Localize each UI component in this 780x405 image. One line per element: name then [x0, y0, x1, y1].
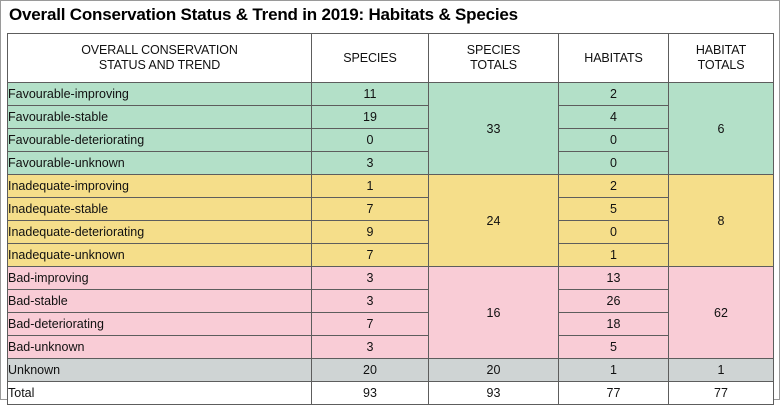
- table-row: Inadequate-deteriorating90: [8, 221, 774, 244]
- cell-habitats: 1: [559, 244, 669, 267]
- cell-habitat-total: 77: [669, 382, 774, 405]
- column-header-habitat-totals-line1: HABITAT: [669, 43, 773, 58]
- column-header-status-line1: OVERALL CONSERVATION: [8, 43, 311, 58]
- column-header-species-totals-line2: TOTALS: [429, 58, 558, 73]
- table-body: Favourable-improving113326Favourable-sta…: [8, 83, 774, 405]
- row-label: Bad-deteriorating: [8, 313, 312, 336]
- table-row: Inadequate-improving12428: [8, 175, 774, 198]
- row-label: Inadequate-stable: [8, 198, 312, 221]
- row-label: Bad-stable: [8, 290, 312, 313]
- cell-habitat-total: 62: [669, 267, 774, 359]
- cell-habitats: 18: [559, 313, 669, 336]
- table-row: Bad-deteriorating718: [8, 313, 774, 336]
- cell-species-total: 20: [429, 359, 559, 382]
- cell-species: 3: [312, 152, 429, 175]
- unknown-row: Unknown202011: [8, 359, 774, 382]
- header-row: OVERALL CONSERVATION STATUS AND TREND SP…: [8, 34, 774, 83]
- cell-species-total: 33: [429, 83, 559, 175]
- row-label: Favourable-improving: [8, 83, 312, 106]
- cell-species: 19: [312, 106, 429, 129]
- cell-habitats: 0: [559, 129, 669, 152]
- cell-habitats: 1: [559, 359, 669, 382]
- row-label: Inadequate-unknown: [8, 244, 312, 267]
- cell-habitat-total: 6: [669, 83, 774, 175]
- conservation-status-table: OVERALL CONSERVATION STATUS AND TREND SP…: [7, 33, 774, 405]
- total-row: Total93937777: [8, 382, 774, 405]
- cell-habitats: 77: [559, 382, 669, 405]
- table-row: Bad-improving3161362: [8, 267, 774, 290]
- row-label: Bad-unknown: [8, 336, 312, 359]
- column-header-status: OVERALL CONSERVATION STATUS AND TREND: [8, 34, 312, 83]
- cell-species-total: 24: [429, 175, 559, 267]
- column-header-habitat-totals-line2: TOTALS: [669, 58, 773, 73]
- cell-habitats: 4: [559, 106, 669, 129]
- column-header-species-totals: SPECIES TOTALS: [429, 34, 559, 83]
- table-row: Favourable-unknown30: [8, 152, 774, 175]
- row-label: Inadequate-deteriorating: [8, 221, 312, 244]
- cell-habitat-total: 8: [669, 175, 774, 267]
- row-label: Bad-improving: [8, 267, 312, 290]
- cell-species: 0: [312, 129, 429, 152]
- page-title: Overall Conservation Status & Trend in 2…: [9, 5, 518, 25]
- cell-habitat-total: 1: [669, 359, 774, 382]
- cell-species: 9: [312, 221, 429, 244]
- cell-habitats: 26: [559, 290, 669, 313]
- table-row: Favourable-deteriorating00: [8, 129, 774, 152]
- cell-habitats: 2: [559, 83, 669, 106]
- cell-habitats: 5: [559, 198, 669, 221]
- column-header-habitat-totals: HABITAT TOTALS: [669, 34, 774, 83]
- cell-habitats: 2: [559, 175, 669, 198]
- cell-species: 11: [312, 83, 429, 106]
- table-row: Favourable-improving113326: [8, 83, 774, 106]
- table-header: OVERALL CONSERVATION STATUS AND TREND SP…: [8, 34, 774, 83]
- cell-habitats: 0: [559, 221, 669, 244]
- cell-species: 7: [312, 313, 429, 336]
- row-label: Inadequate-improving: [8, 175, 312, 198]
- column-header-habitats: HABITATS: [559, 34, 669, 83]
- cell-species: 3: [312, 290, 429, 313]
- row-label: Favourable-stable: [8, 106, 312, 129]
- cell-species: 20: [312, 359, 429, 382]
- cell-species: 3: [312, 267, 429, 290]
- cell-species-total: 16: [429, 267, 559, 359]
- cell-habitats: 0: [559, 152, 669, 175]
- cell-habitats: 5: [559, 336, 669, 359]
- unknown-row-label: Unknown: [8, 359, 312, 382]
- column-header-species-totals-line1: SPECIES: [429, 43, 558, 58]
- table-row: Favourable-stable194: [8, 106, 774, 129]
- table-row: Bad-stable326: [8, 290, 774, 313]
- cell-species: 1: [312, 175, 429, 198]
- row-label: Favourable-deteriorating: [8, 129, 312, 152]
- cell-habitats: 13: [559, 267, 669, 290]
- table-row: Inadequate-unknown71: [8, 244, 774, 267]
- cell-species: 7: [312, 244, 429, 267]
- cell-species: 93: [312, 382, 429, 405]
- table-row: Bad-unknown35: [8, 336, 774, 359]
- column-header-status-line2: STATUS AND TREND: [8, 58, 311, 73]
- column-header-species: SPECIES: [312, 34, 429, 83]
- cell-species: 3: [312, 336, 429, 359]
- total-row-label: Total: [8, 382, 312, 405]
- cell-species-total: 93: [429, 382, 559, 405]
- row-label: Favourable-unknown: [8, 152, 312, 175]
- table-row: Inadequate-stable75: [8, 198, 774, 221]
- screenshot-root: Overall Conservation Status & Trend in 2…: [0, 0, 780, 400]
- cell-species: 7: [312, 198, 429, 221]
